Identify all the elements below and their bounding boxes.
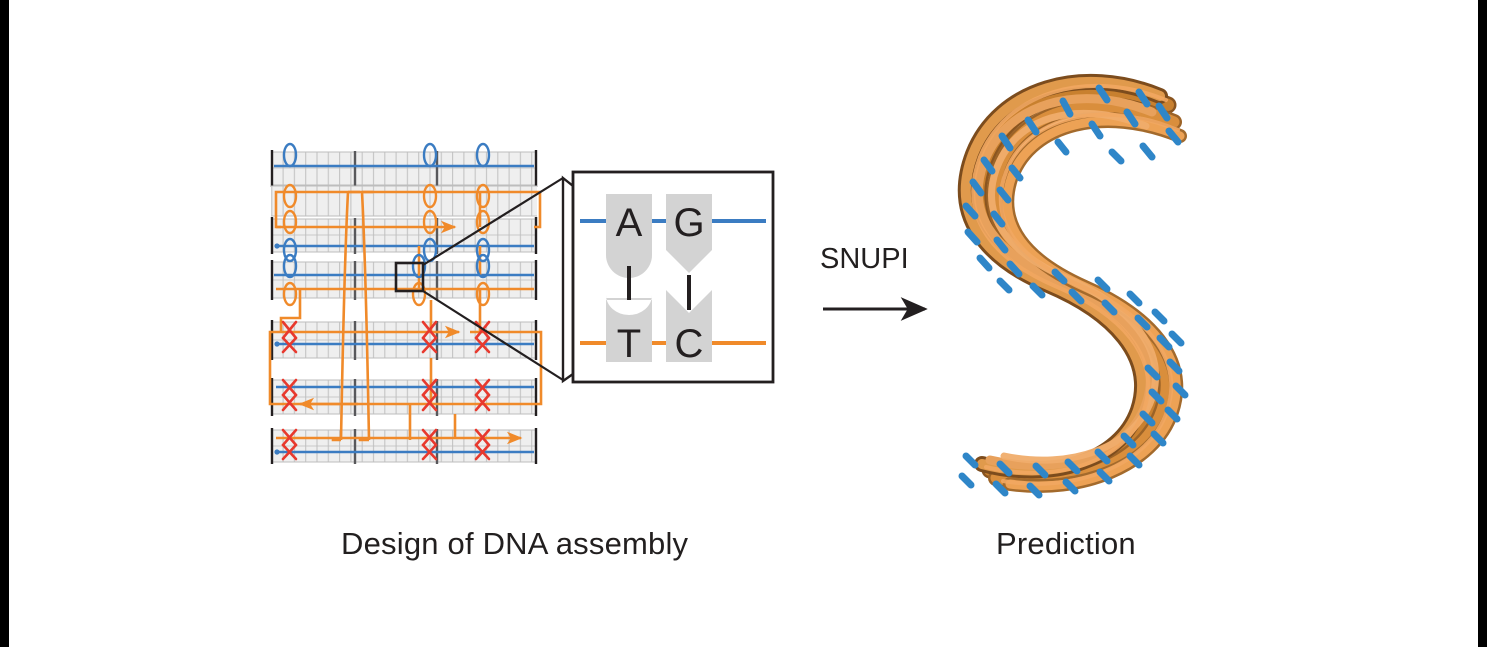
base-letter-A: A xyxy=(616,201,643,245)
figure-stage: A G T C xyxy=(0,0,1487,647)
caption-design: Design of DNA assembly xyxy=(341,526,688,562)
lattice-row-band-7 xyxy=(271,428,537,464)
caption-prediction: Prediction xyxy=(996,526,1136,562)
lattice-row-band-3 xyxy=(271,217,537,254)
design-schematic xyxy=(270,144,563,464)
lattice-row-band-6 xyxy=(271,378,537,416)
lattice-row-band-5 xyxy=(271,320,537,360)
base-letter-G: G xyxy=(673,201,704,245)
transform-label: SNUPI xyxy=(820,243,909,276)
base-letter-T: T xyxy=(617,322,641,366)
base-letter-C: C xyxy=(675,322,704,366)
prediction-structure xyxy=(962,82,1185,495)
lattice-row-band-2 xyxy=(271,186,537,216)
lattice-row-band-4 xyxy=(271,260,537,300)
basepair-inset: A G T C xyxy=(563,172,773,382)
lattice-row-band-1 xyxy=(271,150,537,187)
figure-canvas: A G T C xyxy=(0,0,1487,647)
